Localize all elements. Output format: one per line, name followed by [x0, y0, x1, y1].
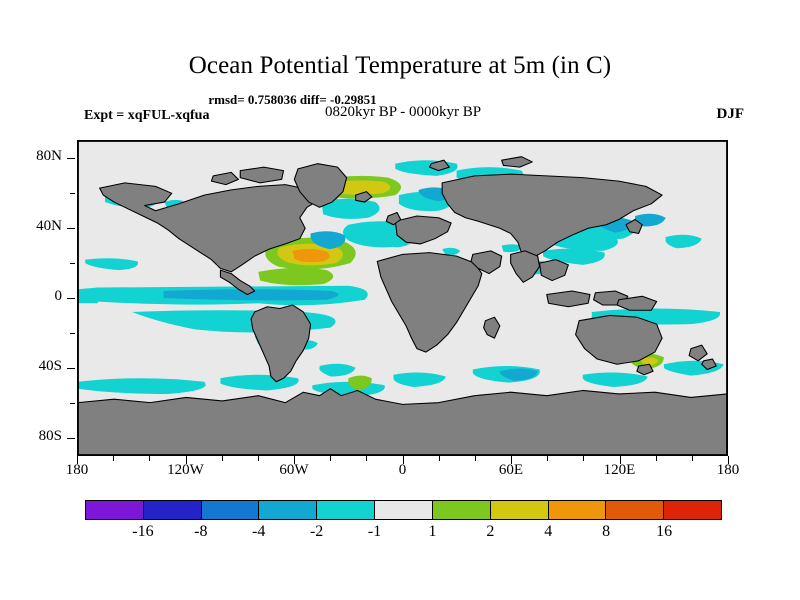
colorbar-tick-label: -8	[171, 523, 231, 541]
season-label: DJF	[717, 106, 745, 123]
x-axis-tick	[366, 456, 367, 461]
x-axis-label: 60E	[476, 462, 546, 479]
statistics-line: rmsd= 0.758036 diff= -0.29851	[0, 92, 585, 108]
y-axis-label: 40S	[0, 358, 62, 375]
colorbar-segment[interactable]	[202, 501, 260, 519]
y-axis-tick	[70, 333, 75, 334]
x-axis-label: 120W	[151, 462, 221, 479]
y-axis-tick	[70, 193, 75, 194]
x-axis-tick	[656, 456, 657, 461]
colorbar-tick-label: 8	[576, 523, 636, 541]
y-axis-label: 80N	[0, 148, 62, 165]
x-axis-tick	[692, 456, 693, 461]
colorbar-segment[interactable]	[433, 501, 491, 519]
colorbar-segment[interactable]	[86, 501, 144, 519]
y-axis-tick-major	[67, 298, 75, 299]
x-axis-label: 180	[693, 462, 763, 479]
colorbar-tick-label: 1	[402, 523, 462, 541]
x-axis-label: 180	[42, 462, 112, 479]
x-axis-tick	[583, 456, 584, 461]
x-axis-label: 120E	[585, 462, 655, 479]
colorbar-segment[interactable]	[375, 501, 433, 519]
colorbar-tick-label: -16	[113, 523, 173, 541]
colorbar[interactable]	[85, 500, 722, 520]
x-axis-label: 60W	[259, 462, 329, 479]
y-axis-tick-major	[67, 368, 75, 369]
y-axis-tick	[70, 403, 75, 404]
colorbar-tick-label: -4	[229, 523, 289, 541]
colorbar-segment[interactable]	[317, 501, 375, 519]
x-axis-tick	[258, 456, 259, 461]
y-axis-tick-major	[67, 158, 75, 159]
colorbar-segment[interactable]	[549, 501, 607, 519]
x-axis-tick	[475, 456, 476, 461]
colorbar-tick-label: -1	[345, 523, 405, 541]
y-axis-label: 0	[0, 288, 62, 305]
x-axis-tick	[149, 456, 150, 461]
experiment-label: Expt = xqFUL-xqfua	[84, 108, 209, 124]
y-axis-label: 40N	[0, 218, 62, 235]
page-title: Ocean Potential Temperature at 5m (in C)	[0, 52, 800, 80]
y-axis-tick-major	[67, 228, 75, 229]
map-plot-area[interactable]	[77, 140, 728, 456]
y-axis-tick	[70, 263, 75, 264]
y-axis-tick-major	[67, 438, 75, 439]
colorbar-segment[interactable]	[259, 501, 317, 519]
colorbar-segment[interactable]	[606, 501, 664, 519]
x-axis-label: 0	[368, 462, 438, 479]
x-axis-tick	[439, 456, 440, 461]
colorbar-tick-label: 4	[518, 523, 578, 541]
x-axis-tick	[547, 456, 548, 461]
colorbar-tick-label: 2	[460, 523, 520, 541]
colorbar-tick-label: -2	[287, 523, 347, 541]
colorbar-segment[interactable]	[664, 501, 721, 519]
world-map-svg	[78, 141, 727, 455]
colorbar-segment[interactable]	[491, 501, 549, 519]
x-axis-tick	[113, 456, 114, 461]
colorbar-segment[interactable]	[144, 501, 202, 519]
period-label: 0820kyr BP - 0000kyr BP	[325, 104, 481, 121]
y-axis-label: 80S	[0, 428, 62, 445]
x-axis-tick	[222, 456, 223, 461]
colorbar-tick-label: 16	[634, 523, 694, 541]
x-axis-tick	[330, 456, 331, 461]
